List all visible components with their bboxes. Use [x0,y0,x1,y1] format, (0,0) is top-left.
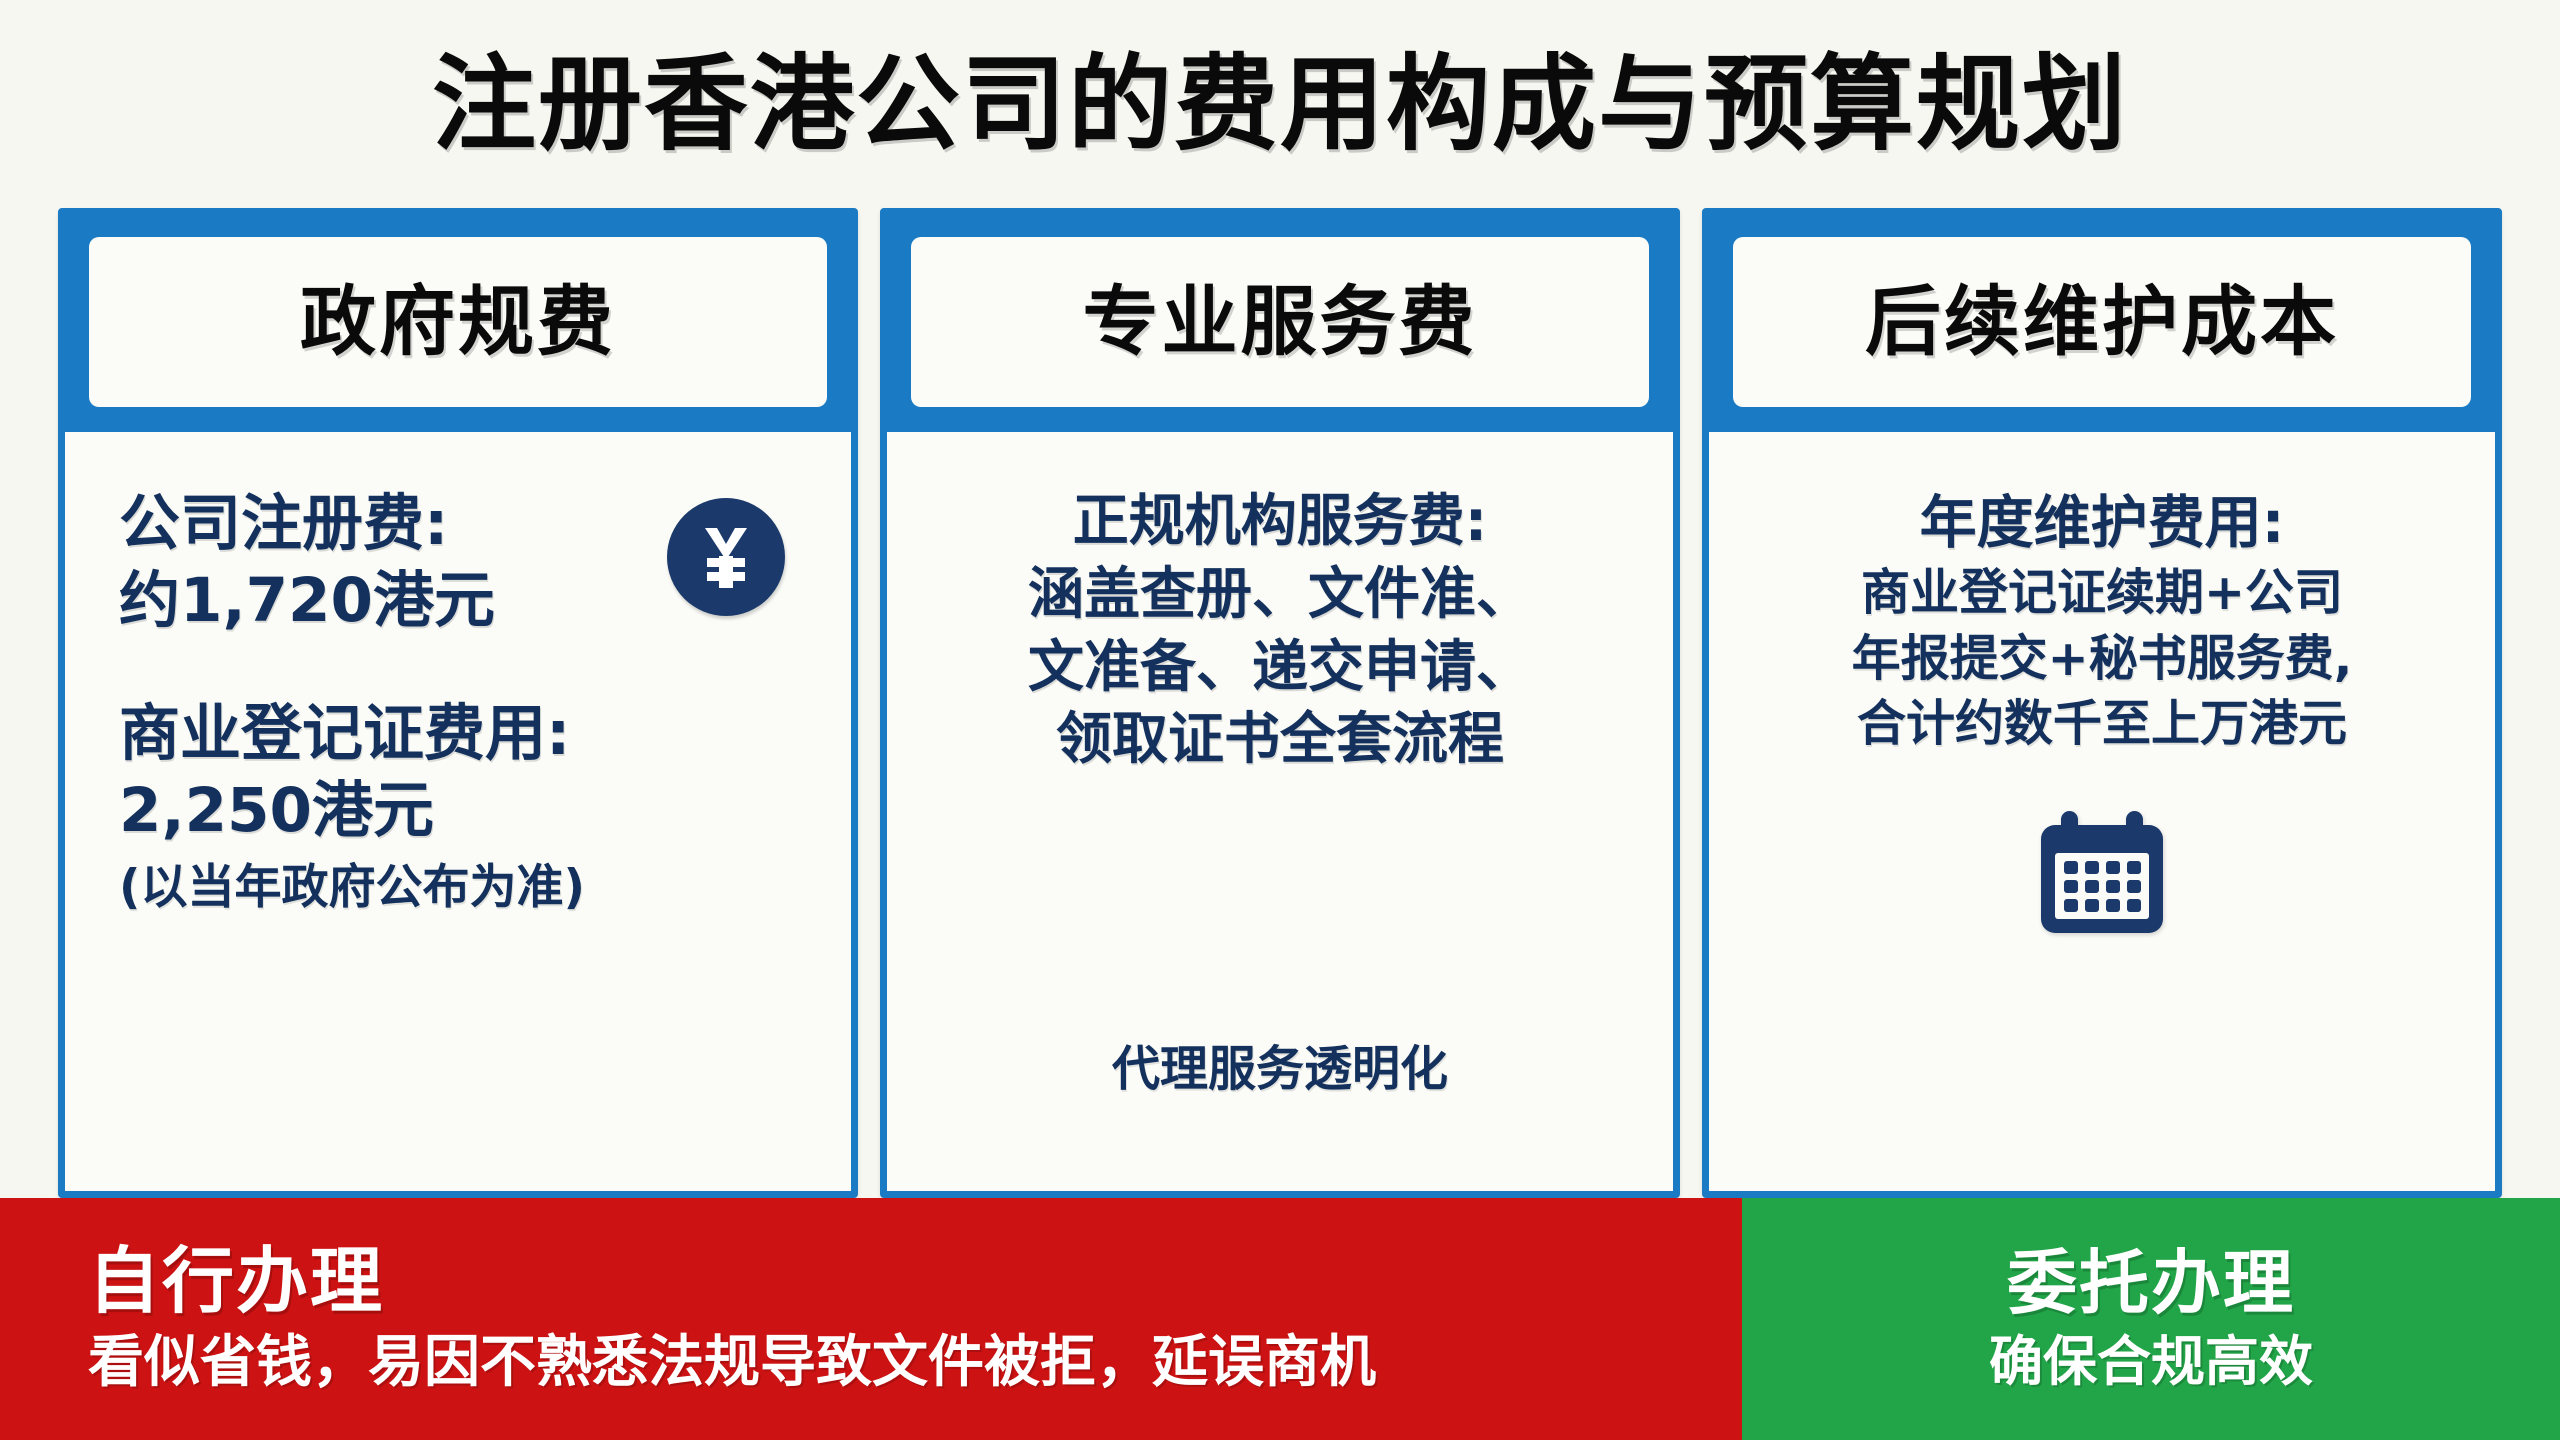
banner-delegated-handling-subtitle: 确保合规高效 [1989,1332,2313,1391]
calendar-icon [1749,801,2455,943]
government-fee-note: (以当年政府公布为准) [119,857,811,918]
cost-cards-row: 政府规费 公司注册费: 约1,720港元 [58,208,2502,1198]
card-header-government-fees: 政府规费 [89,237,827,407]
card-professional-service-fees: 专业服务费 正规机构服务费: 涵盖查册、文件准、 文准备、递交申请、 领取证书全… [880,208,1680,1198]
card-header-ongoing-maintenance-cost: 后续维护成本 [1733,237,2471,407]
maintenance-lines: 年度维护费用: 商业登记证续期+公司 年报提交+秘书服务费, 合计约数千至上万港… [1749,486,2455,757]
service-fee-footer: 代理服务透明化 [927,1029,1633,1099]
card-header-label: 后续维护成本 [1865,284,2339,360]
infographic-poster: 注册香港公司的费用构成与预算规划 政府规费 公司注册费: 约1,720港元 [0,0,2560,1440]
maintenance-line-3: 合计约数千至上万港元 [1857,691,2347,757]
card-header-professional-service-fees: 专业服务费 [911,237,1649,407]
maintenance-line-2: 年报提交+秘书服务费, [1852,626,2353,692]
service-fee-line-1: 正规机构服务费: [1073,486,1487,559]
business-registration-label: 商业登记证费用: [119,696,811,773]
card-header-label: 专业服务费 [1083,284,1478,360]
maintenance-line-1: 商业登记证续期+公司 [1861,560,2343,626]
professional-service-lines: 正规机构服务费: 涵盖查册、文件准、 文准备、递交申请、 领取证书全套流程 [927,486,1633,777]
banner-delegated-handling-title: 委托办理 [2007,1247,2295,1321]
card-header-label: 政府规费 [300,284,616,360]
card-body-government-fees: 公司注册费: 约1,720港元 [65,425,851,1191]
service-fee-line-2: 涵盖查册、文件准、 [1028,559,1532,632]
registration-fee-label: 公司注册费: [119,486,495,563]
title-section: 注册香港公司的费用构成与预算规划 [0,0,2560,208]
business-registration-amount: 2,250港元 [119,773,811,850]
registration-fee-row: 公司注册费: 约1,720港元 [105,486,811,640]
banner-self-handling: 自行办理 看似省钱，易因不熟悉法规导致文件被拒，延误商机 [0,1198,1742,1440]
card-body-ongoing-maintenance-cost: 年度维护费用: 商业登记证续期+公司 年报提交+秘书服务费, 合计约数千至上万港… [1709,425,2495,1191]
registration-fee-amount: 约1,720港元 [119,563,495,640]
banner-delegated-handling: 委托办理 确保合规高效 [1742,1198,2560,1440]
banner-self-handling-title: 自行办理 [88,1244,384,1320]
card-government-fees: 政府规费 公司注册费: 约1,720港元 [58,208,858,1198]
page-title: 注册香港公司的费用构成与预算规划 [432,52,2128,156]
business-registration-row: 商业登记证费用: 2,250港元 (以当年政府公布为准) [105,696,811,919]
banner-self-handling-subtitle: 看似省钱，易因不熟悉法规导致文件被拒，延误商机 [88,1332,1376,1394]
yen-coin-icon [667,498,785,616]
card-ongoing-maintenance-cost: 后续维护成本 年度维护费用: 商业登记证续期+公司 年报提交+秘书服务费, 合计… [1702,208,2502,1198]
comparison-banners: 自行办理 看似省钱，易因不熟悉法规导致文件被拒，延误商机 委托办理 确保合规高效 [0,1198,2560,1440]
registration-fee-lines: 公司注册费: 约1,720港元 [119,486,495,640]
service-fee-line-3: 文准备、递交申请、 [1028,632,1532,705]
service-fee-line-4: 领取证书全套流程 [1056,704,1504,777]
maintenance-heading: 年度维护费用: [1920,486,2285,560]
card-body-professional-service-fees: 正规机构服务费: 涵盖查册、文件准、 文准备、递交申请、 领取证书全套流程 代理… [887,425,1673,1191]
